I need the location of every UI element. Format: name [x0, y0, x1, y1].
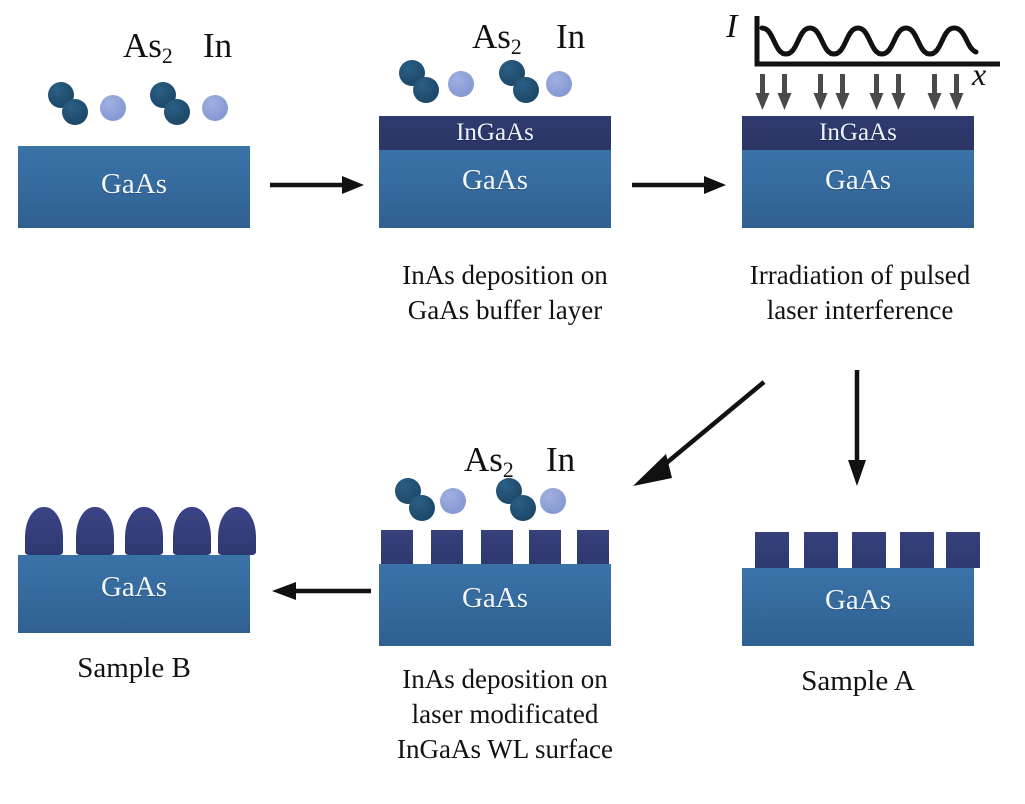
as2-molecule — [399, 60, 441, 108]
nanostructure-block — [755, 532, 789, 568]
gaas-substrate-step2: GaAs — [379, 150, 611, 228]
gaas-substrate-step1: GaAs — [18, 146, 250, 228]
panel-sample-b: GaAs Sample B — [0, 490, 300, 700]
quantum-dot — [76, 507, 114, 555]
as-atom — [62, 99, 88, 125]
laser-arrow-pair-4 — [928, 74, 964, 110]
gaas-substrate-step5: GaAs — [379, 564, 611, 646]
as-atom — [409, 495, 435, 521]
figure-canvas: As2 In GaAs As2 In — [0, 0, 1025, 804]
nanostructure-blocks-sample-a — [742, 532, 974, 568]
gaas-substrate-sample-b: GaAs — [18, 555, 250, 633]
panel-step5: As2 In GaAs InAs deposition on laser mod… — [360, 430, 680, 800]
gaas-label: GaAs — [18, 168, 250, 201]
intensity-axis-label: I — [726, 8, 737, 46]
in-atom — [448, 71, 474, 97]
as2-molecule — [499, 60, 541, 108]
layer-stack-step3: InGaAs GaAs — [742, 116, 974, 228]
gaas-substrate-step3: GaAs — [742, 150, 974, 228]
as2-label-step2: As2 — [472, 17, 522, 57]
nanostructure-block — [481, 530, 513, 564]
sample-b-label: Sample B — [18, 652, 250, 685]
in-label-step5: In — [546, 440, 575, 480]
panel-step2: As2 In InGaAs GaAs InAs deposition on Ga… — [360, 0, 680, 340]
caption-step2: InAs deposition on GaAs buffer layer — [360, 258, 650, 328]
nanostructure-blocks-step5 — [379, 530, 611, 564]
as-atom — [513, 77, 539, 103]
ingaas-wetting-layer: InGaAs — [742, 116, 974, 150]
arrow-step3-to-sample-a — [842, 368, 872, 490]
quantum-dot — [125, 507, 163, 555]
nanostructure-block — [577, 530, 609, 564]
laser-arrow-pair-3 — [870, 74, 906, 110]
nanostructure-block — [946, 532, 980, 568]
nanostructure-block — [804, 532, 838, 568]
caption-step3: Irradiation of pulsed laser interference — [710, 258, 1010, 328]
in-atom — [440, 488, 466, 514]
gaas-substrate-sample-a: GaAs — [742, 568, 974, 646]
as-atom — [510, 495, 536, 521]
nanostructure-block — [381, 530, 413, 564]
as2-label-step1: As2 — [123, 26, 173, 66]
in-atom — [546, 71, 572, 97]
arrow-step2-to-step3 — [630, 172, 730, 198]
quantum-dots-sample-b — [18, 507, 250, 555]
gaas-label: GaAs — [742, 164, 974, 197]
panel-sample-a: GaAs Sample A — [720, 510, 1020, 710]
quantum-dot — [173, 507, 211, 555]
arrow-step1-to-step2 — [268, 172, 368, 198]
sample-a-label: Sample A — [742, 665, 974, 698]
laser-arrow-pair-2 — [814, 74, 850, 110]
layer-stack-step2: InGaAs GaAs — [379, 116, 611, 228]
caption-step5: InAs deposition on laser modificated InG… — [355, 662, 655, 767]
laser-arrow-pair-1 — [756, 74, 792, 110]
in-atom — [540, 488, 566, 514]
quantum-dot — [218, 507, 256, 555]
as2-label-step5: As2 — [464, 440, 514, 480]
in-atom — [100, 95, 126, 121]
ingaas-wetting-layer: InGaAs — [379, 116, 611, 150]
panel-step1: As2 In GaAs — [0, 0, 300, 240]
panel-step3: I x — [720, 0, 1025, 340]
ingaas-label: InGaAs — [742, 119, 974, 147]
gaas-label: GaAs — [742, 584, 974, 617]
in-label-step1: In — [203, 26, 232, 66]
laser-arrows-group — [754, 74, 994, 114]
nanostructure-block — [900, 532, 934, 568]
as-atom — [413, 77, 439, 103]
in-atom — [202, 95, 228, 121]
nanostructure-block — [529, 530, 561, 564]
nanostructure-block — [431, 530, 463, 564]
in-label-step2: In — [556, 17, 585, 57]
ingaas-label: InGaAs — [379, 119, 611, 147]
as2-molecule — [150, 82, 192, 130]
as2-molecule — [48, 82, 90, 130]
gaas-label: GaAs — [18, 571, 250, 604]
as-atom — [164, 99, 190, 125]
nanostructure-block — [852, 532, 886, 568]
as2-molecule — [395, 478, 437, 526]
gaas-label: GaAs — [379, 164, 611, 197]
as2-molecule — [496, 478, 538, 526]
gaas-label: GaAs — [379, 582, 611, 615]
interference-intensity-plot — [752, 10, 1002, 72]
quantum-dot — [25, 507, 63, 555]
